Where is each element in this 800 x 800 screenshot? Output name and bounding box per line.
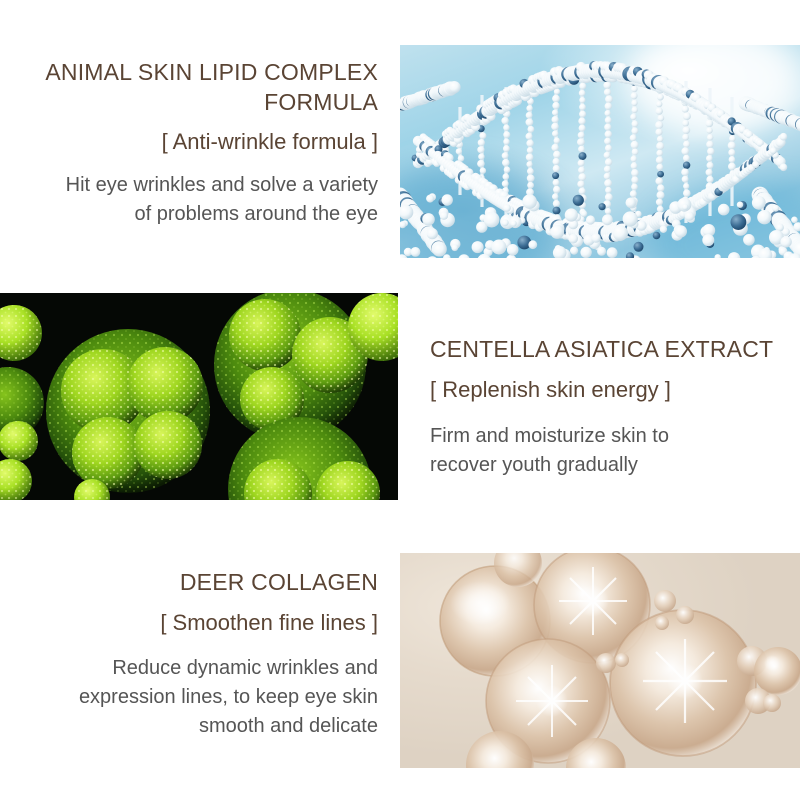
section-animal-skin-lipid-complex-text: ANIMAL SKIN LIPID COMPLEX FORMULA [ Anti… [0,57,378,229]
ingredient-infographic: ANIMAL SKIN LIPID COMPLEX FORMULA [ Anti… [0,0,800,800]
golden-collagen-bubbles-image [400,553,800,768]
section-subtitle: [ Smoothen fine lines ] [0,608,378,638]
algae-cells-graphic [0,293,398,500]
section-deer-collagen-text: DEER COLLAGEN [ Smoothen fine lines ] Re… [0,567,378,741]
section-title: CENTELLA ASIATICA EXTRACT [430,334,800,364]
section-title: DEER COLLAGEN [0,567,378,597]
section-title: ANIMAL SKIN LIPID COMPLEX FORMULA [0,57,378,117]
section-body: Firm and moisturize skin to recover yout… [430,422,800,480]
section-body: Hit eye wrinkles and solve a variety of … [0,171,378,229]
dna-double-helix-image [400,45,800,258]
collagen-bubbles-graphic [400,553,800,768]
dna-helix-graphic [400,45,800,258]
section-subtitle: [ Replenish skin energy ] [430,375,800,405]
section-body: Reduce dynamic wrinkles and expression l… [0,654,378,741]
section-centella-asiatica-extract-text: CENTELLA ASIATICA EXTRACT [ Replenish sk… [430,334,800,480]
section-subtitle: [ Anti-wrinkle formula ] [0,127,378,157]
green-algae-cells-image [0,293,398,500]
